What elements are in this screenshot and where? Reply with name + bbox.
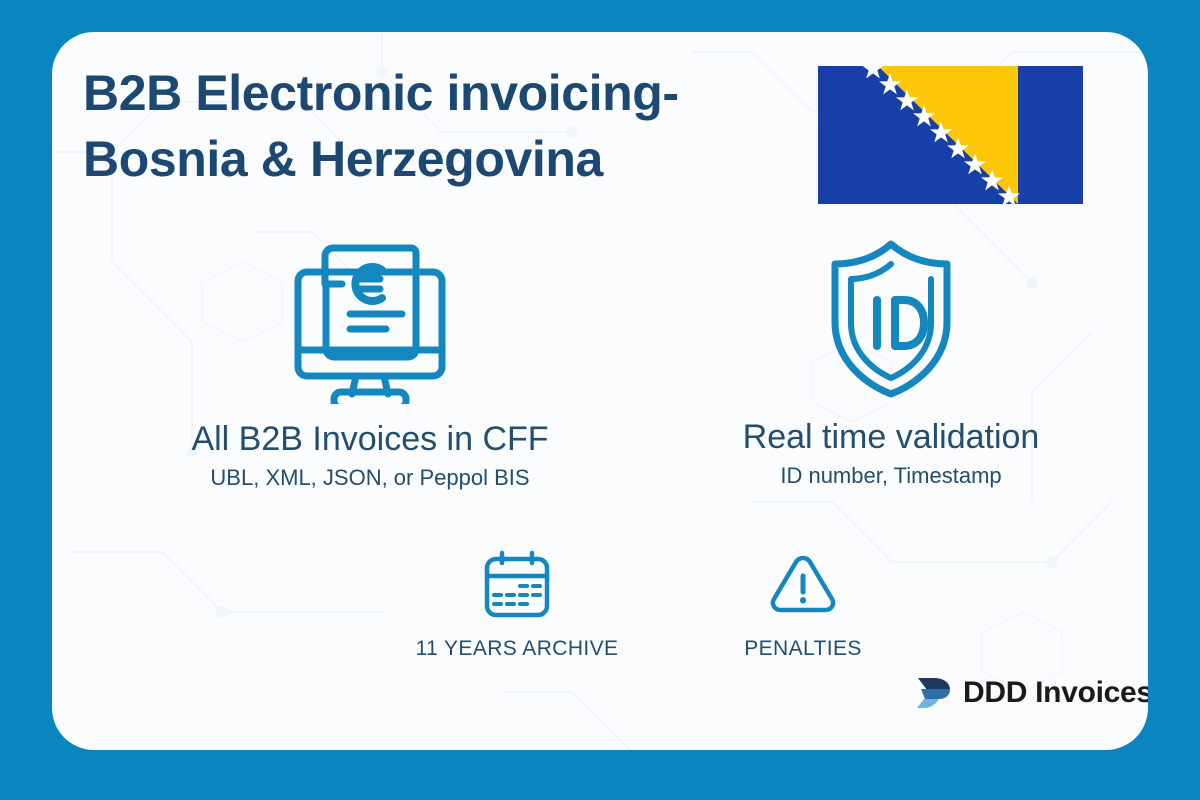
page-title-line-2: Bosnia & Herzegovina xyxy=(83,126,783,192)
feature-validation-subtitle: ID number, Timestamp xyxy=(652,463,1130,489)
monitor-invoice-euro-icon xyxy=(286,234,454,404)
feature-validation-title: Real time validation xyxy=(652,418,1130,457)
mini-feature-archive-label: 11 YEARS ARCHIVE xyxy=(362,637,672,661)
shield-id-icon xyxy=(821,234,961,402)
mini-feature-archive: 11 YEARS ARCHIVE xyxy=(362,549,672,661)
feature-invoices-title: All B2B Invoices in CFF xyxy=(74,420,666,459)
mini-feature-penalties-label: PENALTIES xyxy=(688,637,918,661)
infographic-stage: B2B Electronic invoicing- Bosnia & Herze… xyxy=(0,0,1200,800)
page-title: B2B Electronic invoicing- Bosnia & Herze… xyxy=(83,60,783,192)
warning-triangle-icon xyxy=(765,549,841,621)
bosnia-herzegovina-flag xyxy=(818,66,1083,204)
ddd-invoices-logo[interactable]: DDD Invoices xyxy=(914,676,1148,710)
ddd-logo-mark xyxy=(914,676,952,710)
feature-validation: Real time validation ID number, Timestam… xyxy=(652,234,1130,489)
calendar-icon xyxy=(479,549,555,621)
content-card: B2B Electronic invoicing- Bosnia & Herze… xyxy=(52,32,1148,750)
ddd-invoices-logo-text: DDD Invoices xyxy=(963,676,1148,710)
feature-invoices-subtitle: UBL, XML, JSON, or Peppol BIS xyxy=(74,465,666,491)
feature-invoices: All B2B Invoices in CFF UBL, XML, JSON, … xyxy=(74,234,666,491)
page-title-line-1: B2B Electronic invoicing- xyxy=(83,60,783,126)
mini-feature-penalties: PENALTIES xyxy=(688,549,918,661)
